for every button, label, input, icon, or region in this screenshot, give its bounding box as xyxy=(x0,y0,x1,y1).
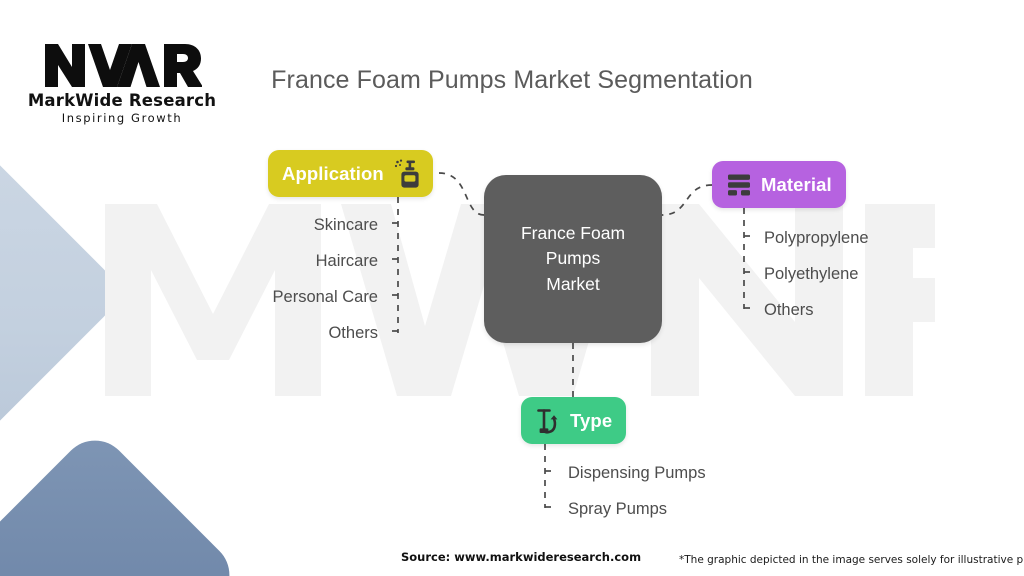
leaf-type-1[interactable]: Dispensing Pumps xyxy=(568,465,706,482)
hand-pump-icon xyxy=(535,406,561,436)
center-node-line-1: France Foam xyxy=(521,223,625,243)
leaf-application-1[interactable]: Skincare xyxy=(178,217,378,234)
infographic-canvas: MarkWide Research Inspiring Growth Franc… xyxy=(0,0,1024,576)
leaf-application-3[interactable]: Personal Care xyxy=(178,289,378,306)
leaf-material-3[interactable]: Others xyxy=(764,302,814,319)
leaf-application-4[interactable]: Others xyxy=(178,325,378,342)
branch-badge-type[interactable]: Type xyxy=(521,397,626,444)
leaf-material-1[interactable]: Polypropylene xyxy=(764,230,869,247)
foam-dispenser-icon xyxy=(393,159,419,189)
center-node-line-2: Pumps xyxy=(546,248,600,268)
branch-label-type: Type xyxy=(570,410,612,432)
footer-source[interactable]: Source: www.markwideresearch.com xyxy=(401,550,641,564)
layout-blocks-icon xyxy=(726,170,752,200)
center-node[interactable]: France Foam Pumps Market xyxy=(484,175,662,343)
branch-label-material: Material xyxy=(761,174,832,196)
center-node-label: France Foam Pumps Market xyxy=(509,221,637,297)
center-node-line-3: Market xyxy=(546,274,599,294)
branch-label-application: Application xyxy=(282,163,384,185)
leaf-material-2[interactable]: Polyethylene xyxy=(764,266,858,283)
leaf-application-2[interactable]: Haircare xyxy=(178,253,378,270)
branch-badge-application[interactable]: Application xyxy=(268,150,433,197)
connector-application-to-center xyxy=(439,173,484,215)
connector-material-to-center xyxy=(662,185,712,215)
leaf-type-2[interactable]: Spray Pumps xyxy=(568,501,667,518)
footer-disclaimer: *The graphic depicted in the image serve… xyxy=(679,554,1024,566)
branch-badge-material[interactable]: Material xyxy=(712,161,846,208)
